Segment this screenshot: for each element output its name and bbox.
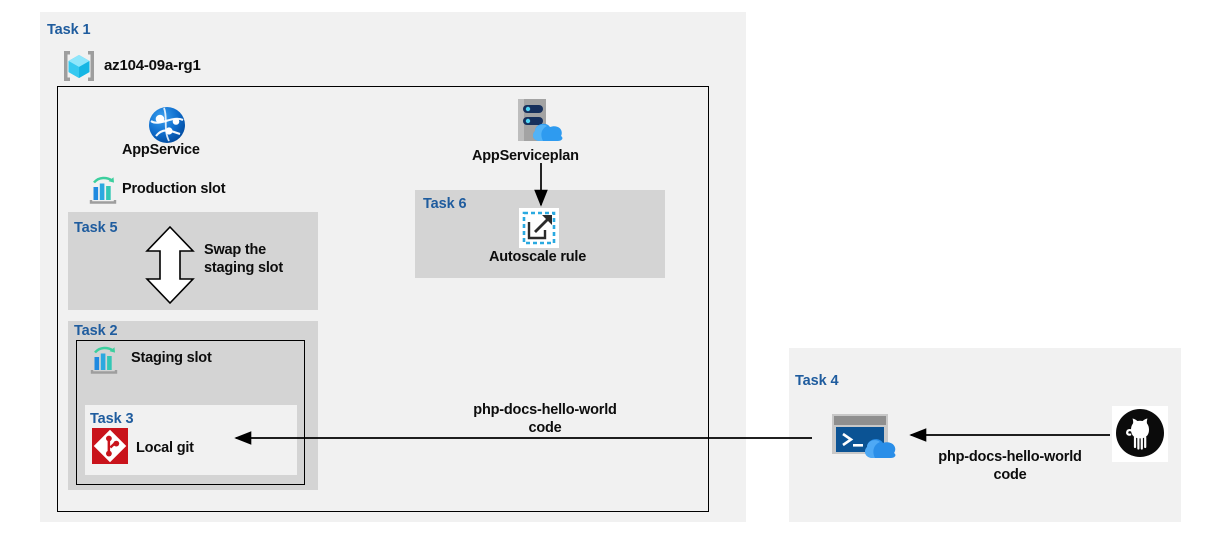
app-service-icon (147, 105, 187, 145)
github-octocat-icon (1112, 406, 1168, 462)
autoscale-rule-label: Autoscale rule (489, 249, 586, 265)
app-service-plan-icon (510, 97, 570, 147)
task-2-label: Task 2 (74, 323, 117, 339)
task-1-label: Task 1 (47, 22, 90, 38)
resource-group-cube-icon (60, 48, 98, 84)
deployment-slot-icon-production (88, 175, 118, 205)
production-slot-label: Production slot (122, 181, 225, 197)
task-3-label: Task 3 (90, 411, 133, 427)
staging-slot-label: Staging slot (131, 350, 212, 366)
cloud-shell-icon (832, 414, 904, 460)
local-git-label: Local git (136, 440, 194, 456)
task-4-label: Task 4 (795, 373, 838, 389)
git-icon (92, 428, 128, 464)
app-service-label: AppService (122, 142, 200, 158)
edge-label-cloudshell-to-localgit: php-docs-hello-world code (455, 401, 635, 437)
edge-label-github-to-cloudshell: php-docs-hello-world code (920, 448, 1100, 484)
autoscale-icon (519, 208, 559, 248)
swap-double-arrow-icon (141, 225, 199, 305)
task-6-label: Task 6 (423, 196, 466, 212)
deployment-slot-icon-staging (89, 345, 119, 375)
swap-label: Swap the staging slot (204, 241, 314, 277)
resource-group-label: az104-09a-rg1 (104, 57, 201, 74)
app-service-plan-label: AppServiceplan (472, 148, 579, 164)
diagram-canvas: Task 1 az104-09a-rg1 (0, 0, 1218, 545)
task-5-label: Task 5 (74, 220, 117, 236)
